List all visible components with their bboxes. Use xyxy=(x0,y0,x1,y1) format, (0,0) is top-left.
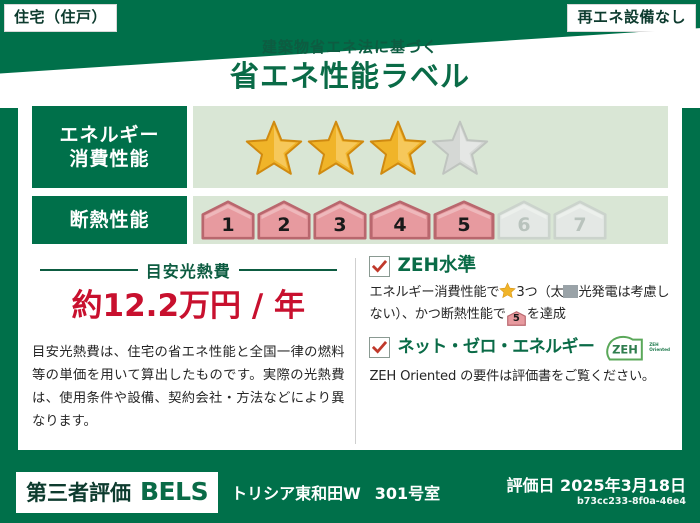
inline-level-badge-number: 5 xyxy=(507,311,526,327)
footer-bar: 第三者評価 BELS トリシア東和田W 301号室 評価日 2025年3月18日… xyxy=(0,461,700,523)
star-filled-icon xyxy=(307,119,365,175)
bels-chip: 第三者評価 BELS xyxy=(16,472,218,513)
cost-note: 目安光熱費は、住宅の省エネ性能と全国一律の燃料等の単価を用いて算出したものです。… xyxy=(32,342,345,433)
insulation-level-2: 2 xyxy=(257,200,311,240)
cost-title: 目安光熱費 xyxy=(32,258,345,282)
tag-housing-type: 住宅（住戸） xyxy=(5,5,116,31)
zeh-logo-icon: ZEH ZEH Oriented xyxy=(603,335,670,361)
checkbox-checked-icon xyxy=(369,256,390,277)
energy-performance-row: エネルギー 消費性能 xyxy=(18,98,682,188)
cost-column: 目安光熱費 約12.2万円 / 年 目安光熱費は、住宅の省エネ性能と全国一律の燃… xyxy=(18,256,355,452)
zeh-standard-title: ZEH水準 xyxy=(397,257,476,276)
svg-text:ZEH: ZEH xyxy=(612,342,638,356)
insulation-performance-label: 断熱性能 xyxy=(32,196,187,244)
insulation-level-6: 6 xyxy=(497,200,551,240)
insulation-level-number: 1 xyxy=(221,214,234,236)
star-filled-icon xyxy=(245,119,303,175)
bels-en-label: BELS xyxy=(140,477,208,506)
zeh-column: ZEH水準 エネルギー消費性能で3つ（太光発電は考慮しない）、かつ断熱性能で5を… xyxy=(355,256,682,452)
redacted-block xyxy=(563,285,578,298)
star-rating xyxy=(193,106,668,188)
cost-title-text: 目安光熱費 xyxy=(146,258,231,282)
zeh-standard-head: ZEH水準 xyxy=(369,256,670,277)
zeh-oriented-caption: ZEH Oriented xyxy=(649,343,670,353)
footer-right-group: 評価日 2025年3月18日 b73cc233-8f0a-46e4 xyxy=(506,477,686,507)
energy-performance-label-line1: エネルギー xyxy=(59,123,159,147)
building-name: トリシア東和田W xyxy=(231,480,361,504)
star-empty-icon xyxy=(431,119,489,175)
inline-level-badge: 5 xyxy=(507,311,526,326)
insulation-level-number: 7 xyxy=(573,214,586,236)
zeh-standard-body-pre: エネルギー消費性能で xyxy=(369,285,499,300)
insulation-performance-row: 断熱性能 1234567 xyxy=(18,188,682,244)
insulation-levels: 1234567 xyxy=(193,196,668,244)
main-card: エネルギー 消費性能 断熱性能 1234567 目安光熱費 約12.2万円 / … xyxy=(18,98,682,450)
insulation-level-4: 4 xyxy=(369,200,431,240)
zeh-oriented-line2: Oriented xyxy=(649,347,670,352)
star-filled-icon xyxy=(369,119,427,175)
insulation-level-number: 4 xyxy=(393,214,406,236)
insulation-level-3: 3 xyxy=(313,200,367,240)
insulation-level-number: 5 xyxy=(457,214,470,236)
insulation-level-number: 6 xyxy=(517,214,530,236)
zeh-net-zero-block: ネット・ゼロ・エネルギー ZEH ZEH Oriented xyxy=(369,335,670,388)
insulation-level-1: 1 xyxy=(201,200,255,240)
lower-section: 目安光熱費 約12.2万円 / 年 目安光熱費は、住宅の省エネ性能と全国一律の燃… xyxy=(18,256,682,452)
evaluation-date: 評価日 2025年3月18日 xyxy=(506,477,686,495)
insulation-level-7: 7 xyxy=(553,200,607,240)
zeh-net-zero-head: ネット・ゼロ・エネルギー ZEH ZEH Oriented xyxy=(369,335,670,361)
insulation-level-number: 3 xyxy=(333,214,346,236)
zeh-standard-body-end: を達成 xyxy=(527,307,566,322)
energy-label-root: 建築物省エネ法に基づく 省エネ性能ラベル 住宅（住戸） 再エネ設備なし エネルギ… xyxy=(0,0,700,523)
zeh-standard-body: エネルギー消費性能で3つ（太光発電は考慮しない）、かつ断熱性能で5を達成 xyxy=(369,282,670,326)
tag-renewable-equipment: 再エネ設備なし xyxy=(568,5,695,31)
room-number: 301号室 xyxy=(375,480,440,504)
zeh-standard-body-mid: 3つ（太 xyxy=(516,285,563,300)
insulation-level-number: 2 xyxy=(277,214,290,236)
insulation-level-list: 1234567 xyxy=(201,200,607,240)
bels-jp-label: 第三者評価 xyxy=(26,477,131,507)
zeh-standard-block: ZEH水準 エネルギー消費性能で3つ（太光発電は考慮しない）、かつ断熱性能で5を… xyxy=(369,256,670,326)
energy-performance-label: エネルギー 消費性能 xyxy=(32,106,187,188)
zeh-net-zero-body: ZEH Oriented の要件は評価書をご覧ください。 xyxy=(369,366,670,388)
checkbox-checked-icon xyxy=(369,337,390,358)
energy-performance-label-line2: 消費性能 xyxy=(69,147,149,171)
cost-value: 約12.2万円 / 年 xyxy=(32,291,345,322)
inline-star-icon xyxy=(499,282,516,298)
insulation-level-5: 5 xyxy=(433,200,495,240)
evaluation-id: b73cc233-8f0a-46e4 xyxy=(506,496,686,507)
zeh-net-zero-title: ネット・ゼロ・エネルギー xyxy=(397,339,594,356)
